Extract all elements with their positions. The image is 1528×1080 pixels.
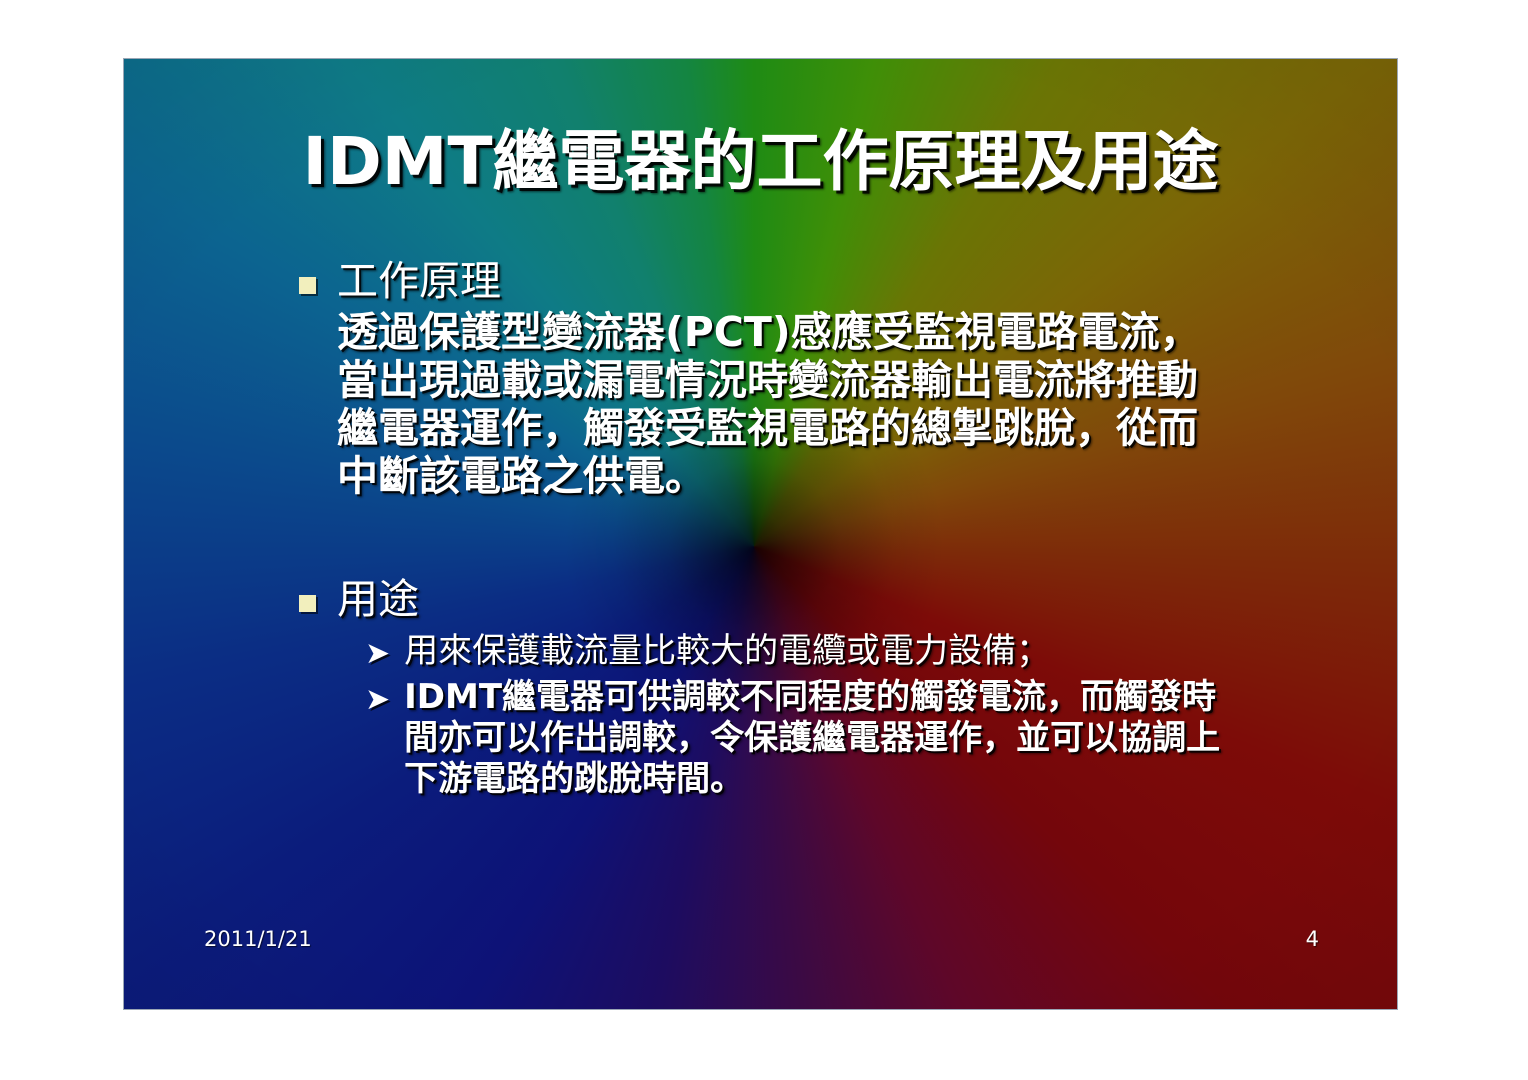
presentation-slide[interactable]: IDMT繼電器的工作原理及用途 工作原理 透過保護型變流器(PCT)感應受監視電… <box>123 58 1398 1010</box>
bullet-row: 用途 <box>299 577 1299 623</box>
chevron-arrow-icon: ➤ <box>365 639 390 669</box>
list-item: ➤ IDMT繼電器可供調較不同程度的觸發電流，而觸發時間亦可以作出調較，令保護繼… <box>365 677 1299 799</box>
content-section-applications: 用途 ➤ 用來保護載流量比較大的電纜或電力設備； ➤ IDMT繼電器可供調較不同… <box>299 577 1299 800</box>
sub-bullet-list: ➤ 用來保護載流量比較大的電纜或電力設備； ➤ IDMT繼電器可供調較不同程度的… <box>365 631 1299 800</box>
footer-date: 2011/1/21 <box>204 927 312 951</box>
footer-page-number: 4 <box>1306 927 1319 951</box>
section-heading-working-principle: 工作原理 <box>337 259 501 305</box>
slide-content: IDMT繼電器的工作原理及用途 工作原理 透過保護型變流器(PCT)感應受監視電… <box>124 59 1397 1009</box>
section-paragraph-working-principle: 透過保護型變流器(PCT)感應受監視電路電流，當出現過載或漏電情況時變流器輸出電… <box>337 309 1227 501</box>
square-bullet-icon <box>299 595 316 612</box>
bullet-row: 工作原理 <box>299 259 1299 305</box>
list-item: ➤ 用來保護載流量比較大的電纜或電力設備； <box>365 631 1299 672</box>
slide-title: IDMT繼電器的工作原理及用途 <box>124 127 1397 196</box>
square-bullet-icon <box>299 277 316 294</box>
slide-body: 工作原理 透過保護型變流器(PCT)感應受監視電路電流，當出現過載或漏電情況時變… <box>299 259 1299 806</box>
section-heading-applications: 用途 <box>337 577 419 623</box>
chevron-arrow-icon: ➤ <box>365 685 390 715</box>
section-spacer <box>299 501 1299 577</box>
content-section-working-principle: 工作原理 透過保護型變流器(PCT)感應受監視電路電流，當出現過載或漏電情況時變… <box>299 259 1299 501</box>
slide-canvas: IDMT繼電器的工作原理及用途 工作原理 透過保護型變流器(PCT)感應受監視電… <box>0 0 1528 1080</box>
sub-bullet-text-cable-protection: 用來保護載流量比較大的電纜或電力設備； <box>404 631 1050 672</box>
sub-bullet-text-idmt-adjustment: IDMT繼電器可供調較不同程度的觸發電流，而觸發時間亦可以作出調較，令保護繼電器… <box>404 677 1244 799</box>
